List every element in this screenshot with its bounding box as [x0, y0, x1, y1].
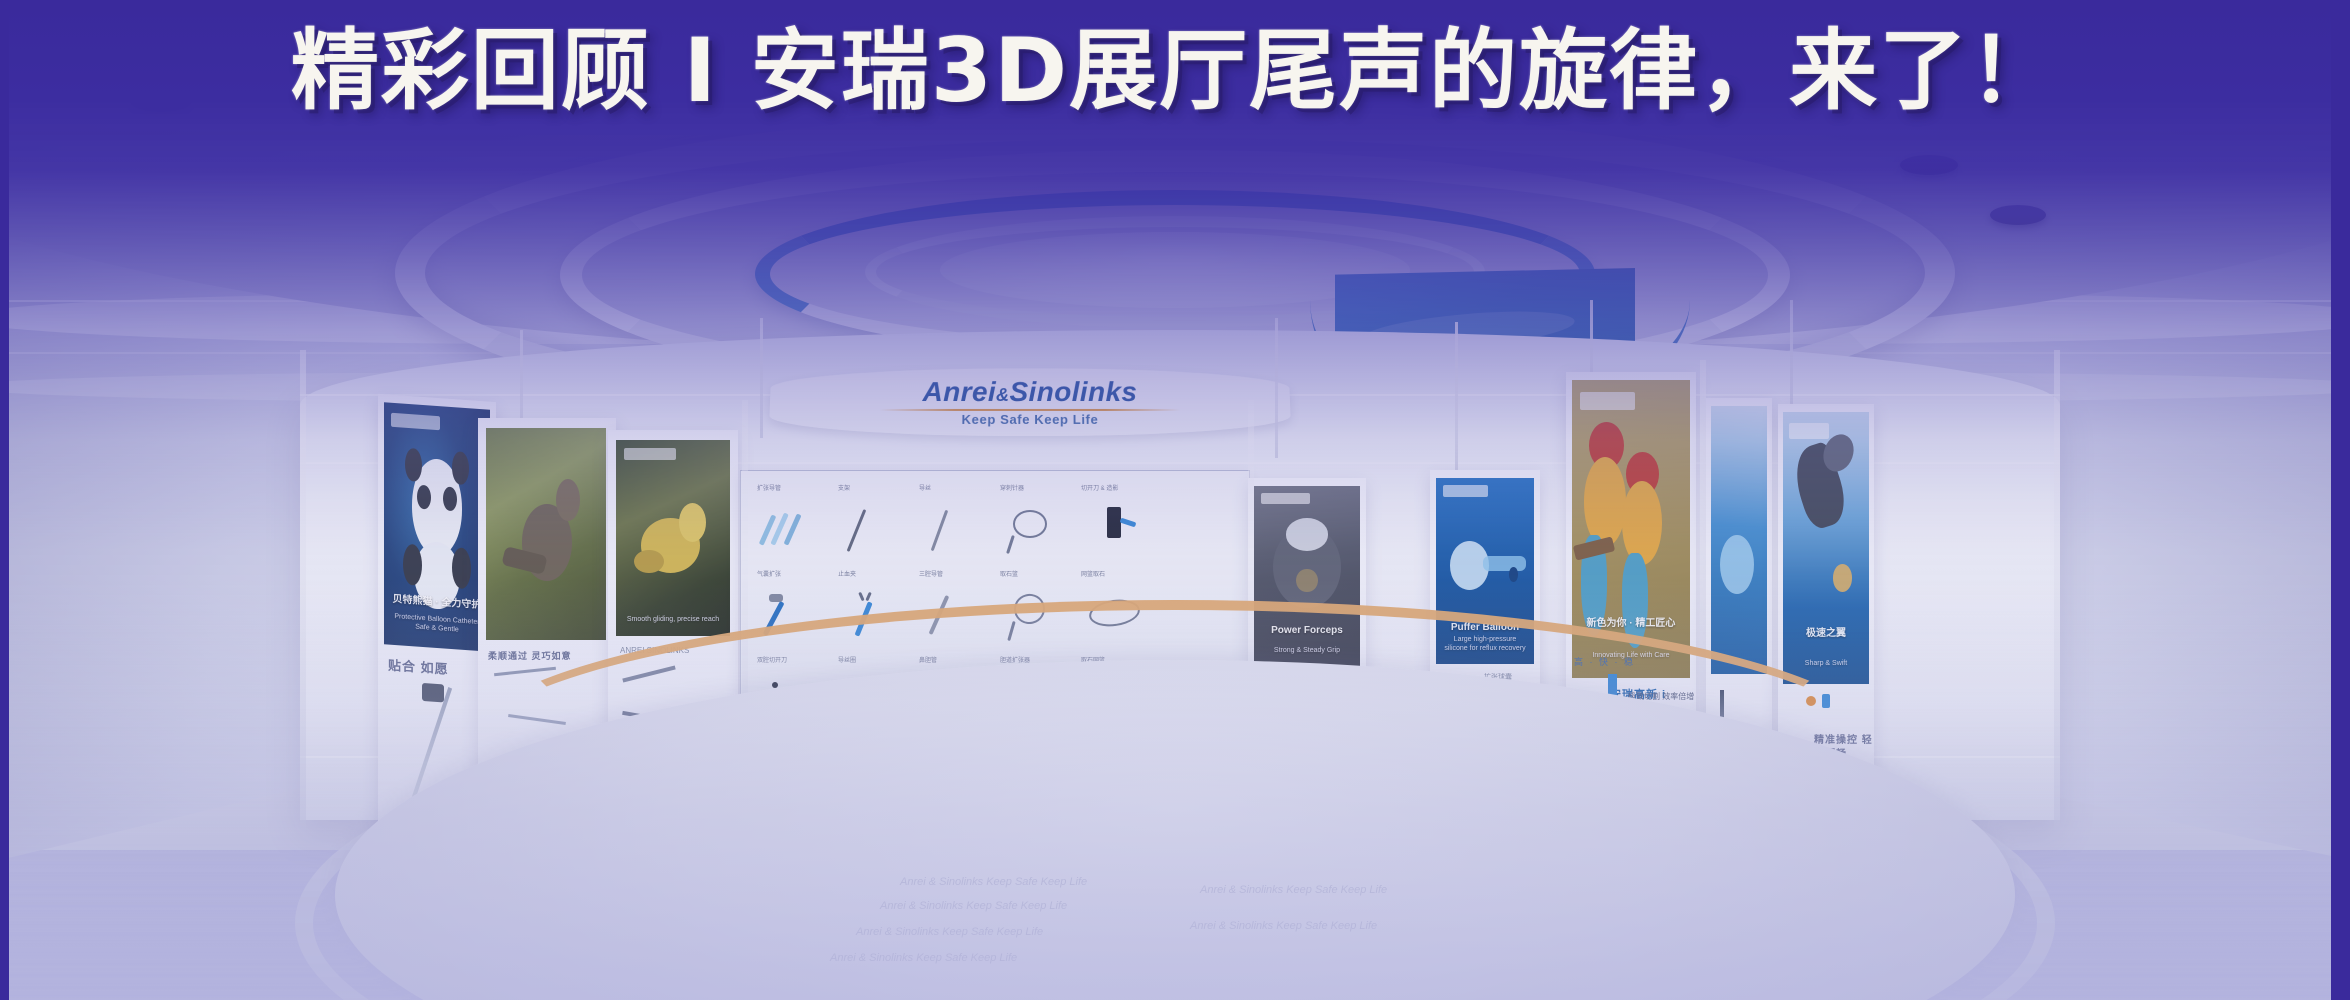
instrument-icon	[1166, 505, 1228, 557]
floor-text-row: Anrei & Sinolinks Keep Safe Keep Life	[880, 900, 1067, 912]
room-3d-scene: Anrei&Sinolinks Keep Safe Keep Life	[0, 0, 2350, 1000]
instrument-label: 气囊扩张	[757, 569, 781, 578]
frog-leg-shape	[634, 550, 664, 574]
poster-artwork-frog: Smooth gliding, precise reach	[616, 440, 730, 636]
bird-body-shape	[1622, 481, 1662, 564]
floor-text-row: Anrei & Sinolinks Keep Safe Keep Life	[1190, 920, 1377, 932]
support-pillar	[300, 350, 306, 830]
ceiling-spotlight	[1990, 205, 2046, 225]
badger-snout-shape	[1296, 569, 1317, 592]
poster-title: 极速之翼	[1788, 628, 1864, 641]
bird-body-shape	[1584, 457, 1626, 546]
sun-shape	[1833, 564, 1852, 591]
poster-subtitle: Sharp & Swift	[1790, 659, 1862, 668]
badger-crown-shape	[1286, 518, 1328, 550]
panda-ear-shape	[452, 451, 469, 486]
left-border-strip	[0, 0, 9, 1000]
instrument-icon	[1004, 505, 1066, 557]
poster-artwork-eagle: 极速之翼 Sharp & Swift	[1783, 412, 1869, 684]
ceiling-spotlight	[1900, 155, 1958, 175]
instrument-label: 支架	[838, 483, 850, 492]
instrument-icon	[842, 505, 904, 557]
poster-caption: 贴合 如愿	[388, 657, 449, 679]
instrument-label: 切开刀 & 造影	[1081, 483, 1118, 492]
stage-accent-arc	[460, 600, 1890, 900]
logo-underline	[880, 409, 1180, 411]
company-logo: Anrei&Sinolinks Keep Safe Keep Life	[769, 368, 1292, 436]
product-head-panda	[422, 683, 444, 703]
logo-ampersand: &	[996, 385, 1009, 405]
logo-tagline: Keep Safe Keep Life	[962, 413, 1099, 426]
instrument-cell[interactable]: 切开刀 & 造影	[1079, 483, 1158, 567]
instrument-cell[interactable]: 导丝	[917, 483, 996, 567]
jellyfish-dot-shape	[1509, 567, 1519, 582]
logo-anrei: Anrei	[922, 376, 996, 407]
logo-sinolinks: Sinolinks	[1009, 376, 1137, 407]
hanging-rod	[1790, 300, 1793, 420]
poster-brand-tag	[1443, 485, 1488, 496]
hanging-rod	[760, 318, 763, 438]
poster-caption: 柔顺通过 灵巧如意	[488, 650, 572, 662]
instrument-cell[interactable]	[1160, 483, 1239, 567]
floor-text-row: Anrei & Sinolinks Keep Safe Keep Life	[1200, 884, 1387, 896]
instrument-cell[interactable]: 支架	[836, 483, 915, 567]
hanging-rod	[1275, 318, 1278, 458]
hanging-rod	[1455, 322, 1458, 472]
instrument-icon	[761, 505, 823, 557]
instrument-label: 三腔导管	[919, 569, 943, 578]
floor-text-row: Anrei & Sinolinks Keep Safe Keep Life	[856, 926, 1043, 938]
poster-brand-tag	[1580, 392, 1634, 410]
instrument-label: 导丝	[919, 483, 931, 492]
instrument-cell[interactable]: 扩张导管	[755, 483, 834, 567]
poster-brand-tag	[624, 448, 676, 460]
exhibition-hall-banner: Anrei&Sinolinks Keep Safe Keep Life	[0, 0, 2350, 1000]
poster-subtitle: Protective Balloon Catheter Safe & Gentl…	[392, 612, 481, 636]
poster-subtitle: Smooth gliding, precise reach	[625, 615, 721, 624]
poster-artwork-ocean	[1711, 406, 1767, 674]
frog-head-shape	[679, 503, 706, 542]
panda-eye-shape	[417, 484, 431, 509]
kangaroo-head-shape	[556, 479, 580, 521]
instrument-label: 穿刺针器	[1000, 483, 1024, 492]
wave-shape	[1720, 535, 1754, 594]
instrument-icon	[1085, 505, 1147, 557]
right-border-strip	[2331, 0, 2350, 1000]
poster-brand-tag	[391, 412, 440, 430]
support-pillar	[2054, 350, 2060, 830]
logo-wordmark: Anrei&Sinolinks	[922, 378, 1137, 406]
instrument-cell[interactable]: 穿刺针器	[998, 483, 1077, 567]
poster-brand-tag	[1261, 493, 1310, 504]
poster-artwork-panda: 贝特熊猫 · 全力守护 Protective Balloon Catheter …	[384, 402, 490, 651]
instrument-label: 扩张导管	[757, 483, 781, 492]
jellyfish-tail-shape	[1483, 556, 1526, 571]
floor-text-row: Anrei & Sinolinks Keep Safe Keep Life	[830, 952, 1017, 964]
instrument-label: 取石篮	[1000, 569, 1018, 578]
instrument-label: 止血夹	[838, 569, 856, 578]
poster-title: 贝特熊猫 · 全力守护	[390, 594, 483, 613]
instrument-icon	[923, 505, 985, 557]
poster-artwork-kangaroo	[486, 428, 606, 640]
instrument-label: 网篮取石	[1081, 569, 1105, 578]
floor-text-row: Anrei & Sinolinks Keep Safe Keep Life	[900, 876, 1087, 888]
page-title: 精彩回顾 I 安瑞3D展厅尾声的旋律，来了！	[0, 22, 2350, 121]
panda-arm-shape	[452, 547, 471, 589]
product-image-kangaroo	[494, 667, 556, 676]
panda-eye-shape	[443, 486, 457, 511]
poster-brand-tag	[1789, 423, 1829, 439]
